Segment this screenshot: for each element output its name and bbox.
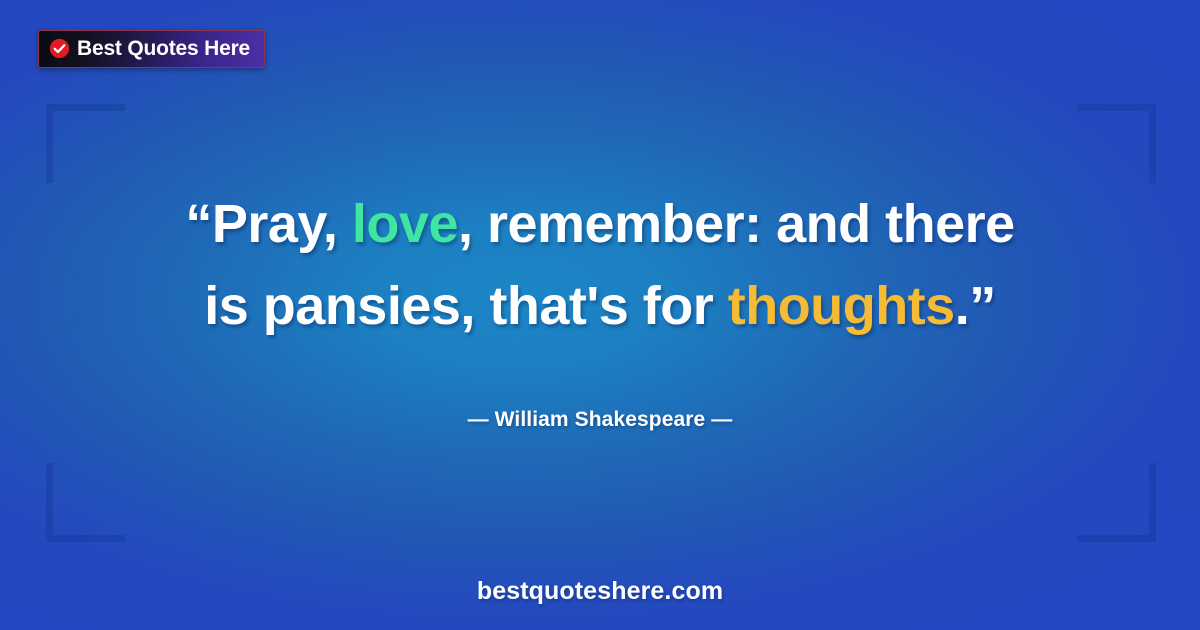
corner-bracket-top-right	[1077, 104, 1156, 183]
quote-line1-part1: “Pray,	[185, 194, 352, 254]
quote-line2-part2: .”	[955, 276, 996, 336]
corner-bracket-bottom-left	[46, 463, 125, 542]
corner-bracket-top-left	[46, 104, 125, 183]
check-circle-icon	[49, 38, 70, 59]
quote-card: Best Quotes Here “Pray, love, remember: …	[0, 0, 1200, 630]
quote-line-2: is pansies, that's for thoughts.”	[60, 278, 1140, 334]
quote-attribution: — William Shakespeare —	[0, 408, 1200, 432]
quote-highlight-green: love	[352, 194, 458, 254]
quote-line1-part2: , remember: and there	[458, 194, 1015, 254]
corner-bracket-bottom-right	[1077, 463, 1156, 542]
quote-line2-part1: is pansies, that's for	[204, 276, 728, 336]
quote-line-1: “Pray, love, remember: and there	[185, 194, 1014, 254]
quote-highlight-gold: thoughts	[728, 276, 955, 336]
brand-badge[interactable]: Best Quotes Here	[38, 30, 265, 68]
quote-block: “Pray, love, remember: and there is pans…	[0, 196, 1200, 334]
footer-website: bestquoteshere.com	[0, 577, 1200, 606]
brand-badge-label: Best Quotes Here	[77, 38, 250, 59]
quote-text: “Pray, love, remember: and there is pans…	[60, 196, 1140, 334]
